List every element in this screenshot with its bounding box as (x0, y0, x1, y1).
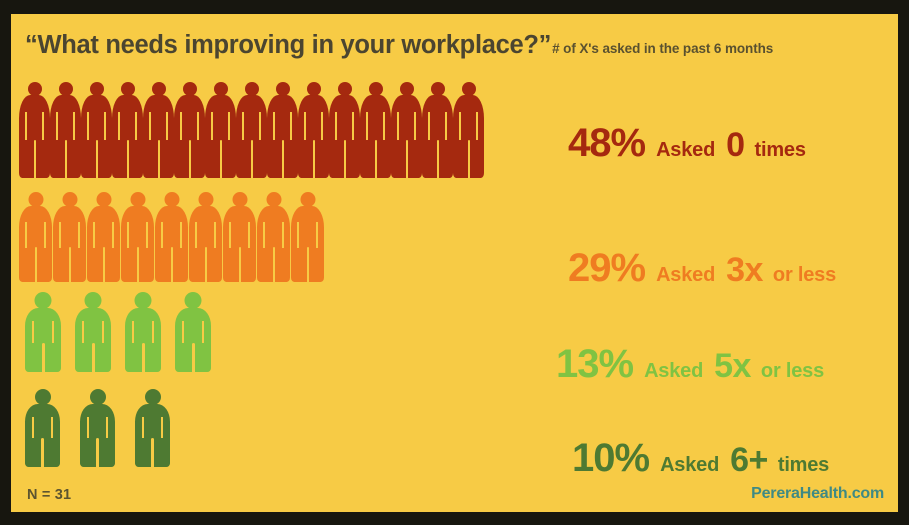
person-pictogram-icon (75, 292, 125, 372)
pictogram-right-arm-gap (290, 112, 292, 140)
person-pictogram-icon (360, 82, 391, 178)
pictogram-left-arm-gap (32, 321, 34, 343)
pictogram-leg-gap (65, 140, 67, 178)
person-pictogram-icon (87, 192, 121, 282)
pictogram-head (276, 82, 290, 96)
pictogram-head (28, 82, 42, 96)
person-pictogram-icon (329, 82, 360, 178)
pictogram-right-arm-gap (414, 112, 416, 140)
pictogram-left-arm-gap (161, 222, 163, 248)
pictogram-leg-gap (205, 247, 207, 282)
statistic-row: 29%Asked3xor less (568, 246, 836, 291)
pictogram-head (338, 82, 352, 96)
pictogram-right-arm-gap (104, 112, 106, 140)
pictogram-right-arm-gap (78, 222, 80, 248)
statistic-row: 48%Asked0times (568, 121, 806, 166)
pictogram-row (25, 292, 225, 372)
pictogram-leg-gap (273, 247, 275, 282)
pictogram-right-arm-gap (112, 222, 114, 248)
person-pictogram-icon (189, 192, 223, 282)
pictogram-right-arm-gap (102, 321, 104, 343)
pictogram-right-arm-gap (166, 112, 168, 140)
statistic-suffix: times (755, 139, 806, 162)
pictogram-left-arm-gap (25, 222, 27, 248)
pictogram-head (300, 192, 315, 207)
statistic-row: 10%Asked6+times (572, 436, 829, 481)
pictogram-head (431, 82, 445, 96)
pictogram-left-arm-gap (211, 112, 213, 140)
pictogram-left-arm-gap (56, 112, 58, 140)
header: “What needs improving in your workplace?… (25, 31, 888, 60)
pictogram-head (85, 292, 102, 309)
pictogram-leg-gap (239, 247, 241, 282)
pictogram-leg-gap (468, 140, 470, 178)
pictogram-leg-gap (69, 247, 71, 282)
pictogram-right-arm-gap (152, 321, 154, 343)
pictogram-leg-gap (41, 438, 44, 467)
pictogram-leg-gap (313, 140, 315, 178)
sample-size-label: N = 31 (27, 487, 71, 503)
pictogram-right-arm-gap (202, 321, 204, 343)
pictogram-left-arm-gap (142, 417, 144, 438)
pictogram-head (183, 82, 197, 96)
pictogram-right-arm-gap (321, 112, 323, 140)
pictogram-leg-gap (103, 247, 105, 282)
pictogram-left-arm-gap (180, 112, 182, 140)
pictogram-right-arm-gap (352, 112, 354, 140)
person-pictogram-icon (422, 82, 453, 178)
pictogram-right-arm-gap (146, 222, 148, 248)
pictogram-left-arm-gap (229, 222, 231, 248)
person-pictogram-icon (291, 192, 325, 282)
pictogram-row (25, 389, 190, 467)
pictogram-right-arm-gap (42, 112, 44, 140)
infographic-frame: “What needs improving in your workplace?… (0, 0, 909, 525)
pictogram-left-arm-gap (132, 321, 134, 343)
statistic-count: 0 (726, 126, 744, 165)
statistic-asked-label: Asked (656, 139, 715, 162)
pictogram-right-arm-gap (282, 222, 284, 248)
pictogram-left-arm-gap (93, 222, 95, 248)
pictogram-leg-gap (151, 438, 154, 467)
pictogram-right-arm-gap (259, 112, 261, 140)
statistic-percent: 48% (568, 121, 645, 166)
pictogram-left-arm-gap (118, 112, 120, 140)
pictogram-head (369, 82, 383, 96)
person-pictogram-icon (257, 192, 291, 282)
pictogram-left-arm-gap (459, 112, 461, 140)
person-pictogram-icon (236, 82, 267, 178)
pictogram-leg-gap (35, 247, 37, 282)
pictogram-leg-gap (220, 140, 222, 178)
pictogram-leg-gap (158, 140, 160, 178)
pictogram-leg-gap (437, 140, 439, 178)
pictogram-left-arm-gap (149, 112, 151, 140)
pictogram-left-arm-gap (59, 222, 61, 248)
pictogram-right-arm-gap (197, 112, 199, 140)
person-pictogram-icon (19, 192, 53, 282)
statistic-asked-label: Asked (656, 264, 715, 287)
statistic-suffix: or less (773, 264, 836, 287)
pictogram-left-arm-gap (242, 112, 244, 140)
pictogram-left-arm-gap (182, 321, 184, 343)
statistic-row: 13%Asked5xor less (556, 342, 824, 387)
person-pictogram-icon (155, 192, 189, 282)
pictogram-leg-gap (92, 343, 95, 372)
pictogram-right-arm-gap (52, 321, 54, 343)
pictogram-left-arm-gap (366, 112, 368, 140)
pictogram-left-arm-gap (87, 417, 89, 438)
statistic-count: 5x (714, 347, 751, 386)
pictogram-left-arm-gap (195, 222, 197, 248)
pictogram-leg-gap (34, 140, 36, 178)
pictogram-head (35, 389, 51, 405)
pictogram-leg-gap (96, 140, 98, 178)
pictogram-right-arm-gap (316, 222, 318, 248)
pictogram-leg-gap (96, 438, 99, 467)
pictogram-leg-gap (142, 343, 145, 372)
person-pictogram-icon (112, 82, 143, 178)
pictogram-left-arm-gap (82, 321, 84, 343)
pictogram-left-arm-gap (32, 417, 34, 438)
person-pictogram-icon (391, 82, 422, 178)
pictogram-head (232, 192, 247, 207)
person-pictogram-icon (143, 82, 174, 178)
pictogram-right-arm-gap (383, 112, 385, 140)
pictogram-left-arm-gap (87, 112, 89, 140)
pictogram-right-arm-gap (135, 112, 137, 140)
pictogram-leg-gap (344, 140, 346, 178)
person-pictogram-icon (80, 389, 135, 467)
person-pictogram-icon (267, 82, 298, 178)
person-pictogram-icon (121, 192, 155, 282)
person-pictogram-icon (25, 389, 80, 467)
person-pictogram-icon (205, 82, 236, 178)
pictogram-head (35, 292, 52, 309)
pictogram-right-arm-gap (73, 112, 75, 140)
statistic-count: 3x (726, 251, 763, 290)
pictogram-right-arm-gap (51, 417, 53, 438)
pictogram-head (198, 192, 213, 207)
pictogram-head (307, 82, 321, 96)
pictogram-head (121, 82, 135, 96)
statistic-suffix: or less (761, 360, 824, 383)
person-pictogram-icon (298, 82, 329, 178)
pictogram-leg-gap (127, 140, 129, 178)
pictogram-left-arm-gap (335, 112, 337, 140)
pictogram-left-arm-gap (263, 222, 265, 248)
pictogram-leg-gap (42, 343, 45, 372)
pictogram-leg-gap (406, 140, 408, 178)
person-pictogram-icon (53, 192, 87, 282)
pictogram-head (400, 82, 414, 96)
statistic-asked-label: Asked (660, 454, 719, 477)
pictogram-head (28, 192, 43, 207)
pictogram-leg-gap (282, 140, 284, 178)
page-subtitle: # of X's asked in the past 6 months (552, 41, 773, 56)
person-pictogram-icon (25, 292, 75, 372)
pictogram-left-arm-gap (304, 112, 306, 140)
pictogram-right-arm-gap (44, 222, 46, 248)
pictogram-head (152, 82, 166, 96)
pictogram-head (62, 192, 77, 207)
pictogram-leg-gap (375, 140, 377, 178)
pictogram-head (130, 192, 145, 207)
person-pictogram-icon (125, 292, 175, 372)
pictogram-right-arm-gap (161, 417, 163, 438)
person-pictogram-icon (135, 389, 190, 467)
person-pictogram-icon (50, 82, 81, 178)
pictogram-head (135, 292, 152, 309)
pictogram-head (245, 82, 259, 96)
pictogram-head (90, 82, 104, 96)
pictogram-left-arm-gap (428, 112, 430, 140)
statistic-asked-label: Asked (644, 360, 703, 383)
pictogram-head (96, 192, 111, 207)
person-pictogram-icon (19, 82, 50, 178)
pictogram-leg-gap (251, 140, 253, 178)
pictogram-right-arm-gap (214, 222, 216, 248)
pictogram-head (90, 389, 106, 405)
pictogram-left-arm-gap (127, 222, 129, 248)
pictogram-right-arm-gap (228, 112, 230, 140)
person-pictogram-icon (175, 292, 225, 372)
pictogram-left-arm-gap (397, 112, 399, 140)
pictogram-leg-gap (192, 343, 195, 372)
person-pictogram-icon (174, 82, 205, 178)
pictogram-left-arm-gap (273, 112, 275, 140)
pictogram-right-arm-gap (445, 112, 447, 140)
infographic-canvas: “What needs improving in your workplace?… (11, 14, 898, 512)
pictogram-row (19, 192, 325, 282)
pictogram-right-arm-gap (476, 112, 478, 140)
pictogram-row (19, 82, 484, 178)
pictogram-head (164, 192, 179, 207)
person-pictogram-icon (453, 82, 484, 178)
pictogram-head (462, 82, 476, 96)
pictogram-head (266, 192, 281, 207)
pictogram-right-arm-gap (180, 222, 182, 248)
pictogram-left-arm-gap (297, 222, 299, 248)
statistic-percent: 29% (568, 246, 645, 291)
page-title: “What needs improving in your workplace?… (25, 31, 551, 60)
pictogram-left-arm-gap (25, 112, 27, 140)
person-pictogram-icon (81, 82, 112, 178)
pictogram-head (59, 82, 73, 96)
brand-watermark: PereraHealth.com (751, 485, 884, 503)
pictogram-head (214, 82, 228, 96)
statistic-percent: 10% (572, 436, 649, 481)
pictogram-leg-gap (189, 140, 191, 178)
pictogram-head (145, 389, 161, 405)
pictogram-right-arm-gap (248, 222, 250, 248)
statistic-suffix: times (778, 454, 829, 477)
person-pictogram-icon (223, 192, 257, 282)
pictogram-leg-gap (307, 247, 309, 282)
pictogram-leg-gap (137, 247, 139, 282)
pictogram-leg-gap (171, 247, 173, 282)
pictogram-right-arm-gap (106, 417, 108, 438)
pictogram-head (185, 292, 202, 309)
statistic-count: 6+ (730, 441, 768, 480)
statistic-percent: 13% (556, 342, 633, 387)
